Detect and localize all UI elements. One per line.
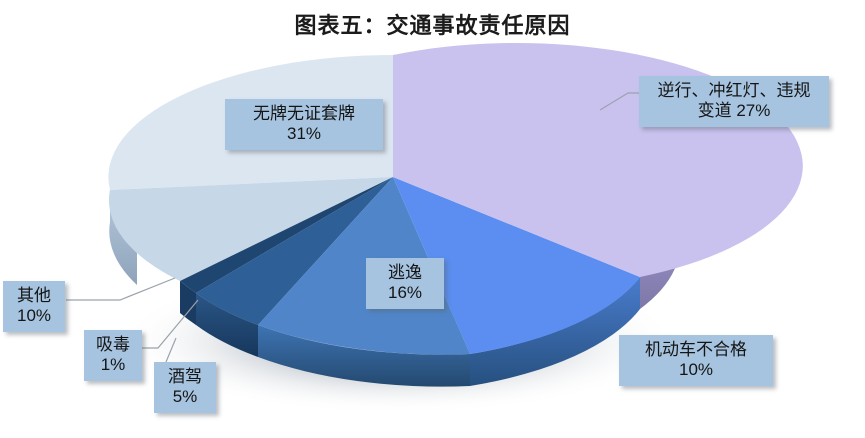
label-xidu-value: 1% [92, 355, 134, 375]
leader-line-qita [66, 278, 175, 300]
label-jiujia[interactable]: 酒驾 5% [154, 362, 216, 413]
label-nixing-value: 变道 27% [647, 101, 821, 121]
label-jiujia-line1: 酒驾 [168, 367, 202, 386]
label-nixing[interactable]: 逆行、冲红灯、违规 变道 27% [639, 76, 829, 127]
label-qita[interactable]: 其他 10% [3, 281, 65, 332]
label-qita-line1: 其他 [17, 286, 51, 305]
label-xidu[interactable]: 吸毒 1% [84, 330, 142, 381]
label-taoyi-value: 16% [374, 283, 436, 303]
label-jidongche-value: 10% [627, 360, 765, 380]
label-nixing-line1: 逆行、冲红灯、违规 [658, 81, 811, 100]
pie-chart-figure: 图表五：交通事故责任原因 [0, 0, 865, 438]
label-wupaiwuzheng[interactable]: 无牌无证套牌 31% [225, 99, 383, 150]
label-jidongche[interactable]: 机动车不合格 10% [619, 335, 773, 386]
label-jidongche-line1: 机动车不合格 [645, 340, 747, 359]
label-wupaiwuzheng-line1: 无牌无证套牌 [253, 104, 355, 123]
label-taoyi-line1: 逃逸 [388, 263, 422, 282]
label-qita-value: 10% [11, 306, 57, 326]
label-wupaiwuzheng-value: 31% [233, 124, 375, 144]
label-taoyi[interactable]: 逃逸 16% [366, 258, 444, 309]
label-xidu-line1: 吸毒 [96, 335, 130, 354]
label-jiujia-value: 5% [162, 387, 208, 407]
